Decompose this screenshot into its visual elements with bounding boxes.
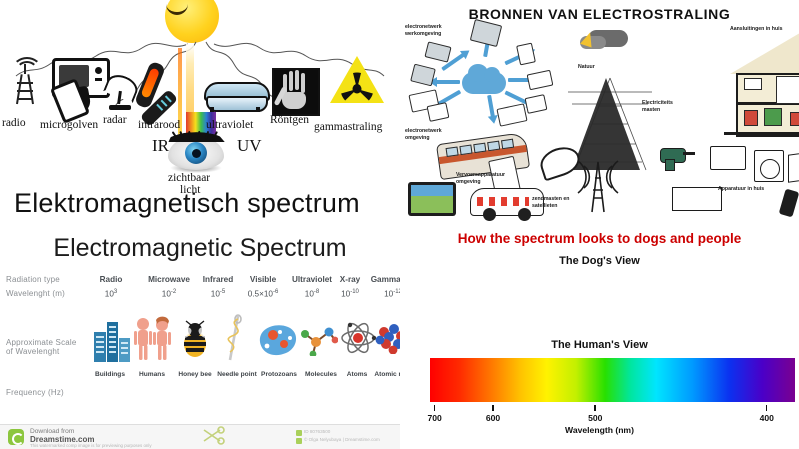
col-header-infrared: Infrared bbox=[196, 275, 240, 284]
scale-label-honey-bee: Honey bee bbox=[172, 371, 218, 378]
printer-icon bbox=[470, 19, 502, 47]
tv-icon bbox=[744, 78, 762, 90]
panel-title-dutch: Elektromagnetisch spectrum bbox=[14, 188, 360, 219]
radio-tower-icon bbox=[10, 62, 40, 104]
molecule-icon bbox=[300, 322, 338, 361]
wavelength-value-microwave: 10-2 bbox=[142, 289, 196, 299]
arrow-icon bbox=[436, 80, 460, 84]
radiation-trefoil-icon bbox=[330, 56, 384, 104]
arrow-icon bbox=[487, 95, 495, 117]
house-cutaway-icon bbox=[730, 30, 799, 135]
axis-tick-label-700: 700 bbox=[427, 413, 441, 423]
tv-icon bbox=[788, 149, 799, 183]
panel-title-bronnen: BRONNEN VAN ELECTROSTRALING bbox=[400, 6, 799, 22]
radar-dish-icon bbox=[104, 76, 138, 110]
axis-tick bbox=[492, 405, 494, 411]
label-transmitters: zendmasten en satellieten bbox=[532, 196, 582, 210]
dog-view-title: The Dog's View bbox=[400, 255, 799, 267]
eye-icon bbox=[168, 136, 224, 170]
scale-label-protozoans: Protozoans bbox=[256, 371, 302, 378]
atom-icon bbox=[340, 320, 376, 361]
label-work-network: electronetwerk werkomgeving bbox=[405, 24, 465, 38]
dreamstime-logo-icon bbox=[8, 429, 24, 445]
wavelength-value-infrared: 10-5 bbox=[196, 289, 240, 299]
band-label-ultraviolet: ultraviolet bbox=[206, 119, 253, 131]
drill-icon bbox=[660, 148, 694, 168]
watermark-line1: Download from bbox=[30, 428, 74, 435]
watermark-bar: Download from Dreamstime.com This waterm… bbox=[0, 424, 400, 449]
col-header-radio: Radio bbox=[88, 275, 134, 284]
label-house-connections: Aansluitingen in huis bbox=[730, 26, 784, 33]
wavelength-value-x-ray: 10-10 bbox=[330, 289, 370, 299]
scale-label-atoms: Atoms bbox=[339, 371, 375, 378]
scale-label-humans: Humans bbox=[130, 371, 174, 378]
bee-icon bbox=[176, 320, 214, 365]
chart-title: Electromagnetic Spectrum bbox=[0, 234, 400, 263]
dog-spectrum-bar bbox=[430, 272, 795, 316]
tanning-bed-icon bbox=[204, 82, 266, 112]
panel-dog-human-view: How the spectrum looks to dogs and peopl… bbox=[400, 225, 799, 449]
label-home-network: electronetwerk omgeving bbox=[405, 128, 457, 142]
axis-tick bbox=[434, 405, 436, 411]
col-header-microwave: Microwave bbox=[142, 275, 196, 284]
band-label-radar: radar bbox=[103, 114, 127, 126]
humans-icon bbox=[131, 316, 173, 367]
collage-page: radio microgolven radar intrarood ultrav… bbox=[0, 0, 799, 449]
needle-icon bbox=[218, 314, 252, 367]
band-label-gammastraling: gammastraling bbox=[314, 121, 382, 133]
row-label-wavelength: Wavelenght (m) bbox=[6, 289, 65, 299]
col-header-gamma-ray: Gamma ray bbox=[368, 275, 400, 284]
scale-label-atomic-nuclei: Atomic nuclei bbox=[372, 371, 400, 378]
band-label-rontgen: Röntgen bbox=[270, 114, 309, 126]
col-header-ultraviolet: Ultraviolet bbox=[288, 275, 336, 284]
sofa-icon bbox=[790, 112, 799, 126]
phone-icon bbox=[779, 189, 799, 218]
label-appliances: Apparatuur in huis bbox=[718, 186, 766, 193]
watermark-id: ID 80763500 bbox=[304, 429, 330, 434]
doorway-icon bbox=[776, 76, 799, 104]
row-label-approx-scale-2: of Wavelenght bbox=[6, 347, 59, 357]
wavelength-value-ultraviolet: 10-8 bbox=[288, 289, 336, 299]
wavelength-value-radio: 103 bbox=[88, 289, 134, 299]
label-nature: Natuur bbox=[578, 64, 595, 71]
xray-hand-icon bbox=[272, 68, 320, 116]
scissors-icon bbox=[200, 426, 226, 446]
cloud-icon bbox=[462, 72, 506, 94]
human-spectrum-bar bbox=[430, 358, 795, 402]
desktop-icon bbox=[410, 64, 436, 87]
nucleus-icon bbox=[374, 322, 400, 359]
band-label-radio: radio bbox=[2, 117, 26, 129]
tablet-icon bbox=[427, 102, 450, 122]
band-label-microgolven: microgolven bbox=[40, 119, 98, 131]
row-label-radiation-type: Radiation type bbox=[6, 275, 60, 285]
visible-light-label-1: zichtbaar bbox=[168, 172, 210, 184]
watermark-line3: This watermarked comp image is for previ… bbox=[30, 443, 152, 448]
col-header-visible: Visible bbox=[238, 275, 288, 284]
label-high-voltage: Electriciteits masten bbox=[642, 100, 690, 114]
tablet-icon bbox=[525, 94, 548, 114]
axis-tick bbox=[594, 405, 596, 411]
row-label-frequency: Frequency (Hz) bbox=[6, 388, 64, 398]
scale-label-molecules: Molecules bbox=[299, 371, 343, 378]
chair-icon bbox=[744, 110, 758, 126]
human-view-title: The Human's View bbox=[400, 339, 799, 351]
axis-tick bbox=[766, 405, 768, 411]
protozoan-icon bbox=[256, 320, 300, 363]
col-header-x-ray: X-ray bbox=[330, 275, 370, 284]
panel-electromagnetic-spectrum-chart: Electromagnetic Spectrum Radiation type … bbox=[0, 228, 400, 449]
axis-tick-label-500: 500 bbox=[588, 413, 602, 423]
axis-title-wavelength: Wavelength (nm) bbox=[400, 425, 799, 435]
scale-label-needle-point: Needle point bbox=[213, 371, 261, 378]
laptop-icon bbox=[424, 41, 451, 62]
navigation-device-icon bbox=[408, 182, 456, 216]
watermark-credit: © Olga Nelyubaya | Dreamstime.com bbox=[304, 437, 380, 442]
laptop-icon bbox=[496, 103, 527, 126]
laptop-icon bbox=[527, 70, 554, 91]
band-label-intrarood: intrarood bbox=[138, 119, 180, 131]
axis-tick-label-400: 400 bbox=[760, 413, 774, 423]
storm-cloud-icon bbox=[578, 28, 634, 58]
panel-title-dog-human: How the spectrum looks to dogs and peopl… bbox=[400, 231, 799, 246]
plant-icon bbox=[764, 108, 782, 126]
uv-label: UV bbox=[237, 136, 262, 156]
washing-machine-icon bbox=[754, 150, 784, 182]
wavelength-value-gamma-ray: 10-12 bbox=[368, 289, 400, 299]
panel-dutch-em-spectrum: radio microgolven radar intrarood ultrav… bbox=[0, 0, 400, 228]
house-icon bbox=[668, 172, 724, 210]
microwave-icon bbox=[710, 146, 746, 170]
axis-tick-label-600: 600 bbox=[486, 413, 500, 423]
scale-label-buildings: Buildings bbox=[88, 371, 132, 378]
panel-bronnen-electrostraling: BRONNEN VAN ELECTROSTRALING electronetwe… bbox=[400, 0, 799, 225]
label-transport: Vervoersapparatuur omgeving bbox=[456, 172, 508, 186]
wavelength-value-visible: 0.5×10-6 bbox=[238, 289, 288, 299]
buildings-icon bbox=[92, 316, 132, 367]
